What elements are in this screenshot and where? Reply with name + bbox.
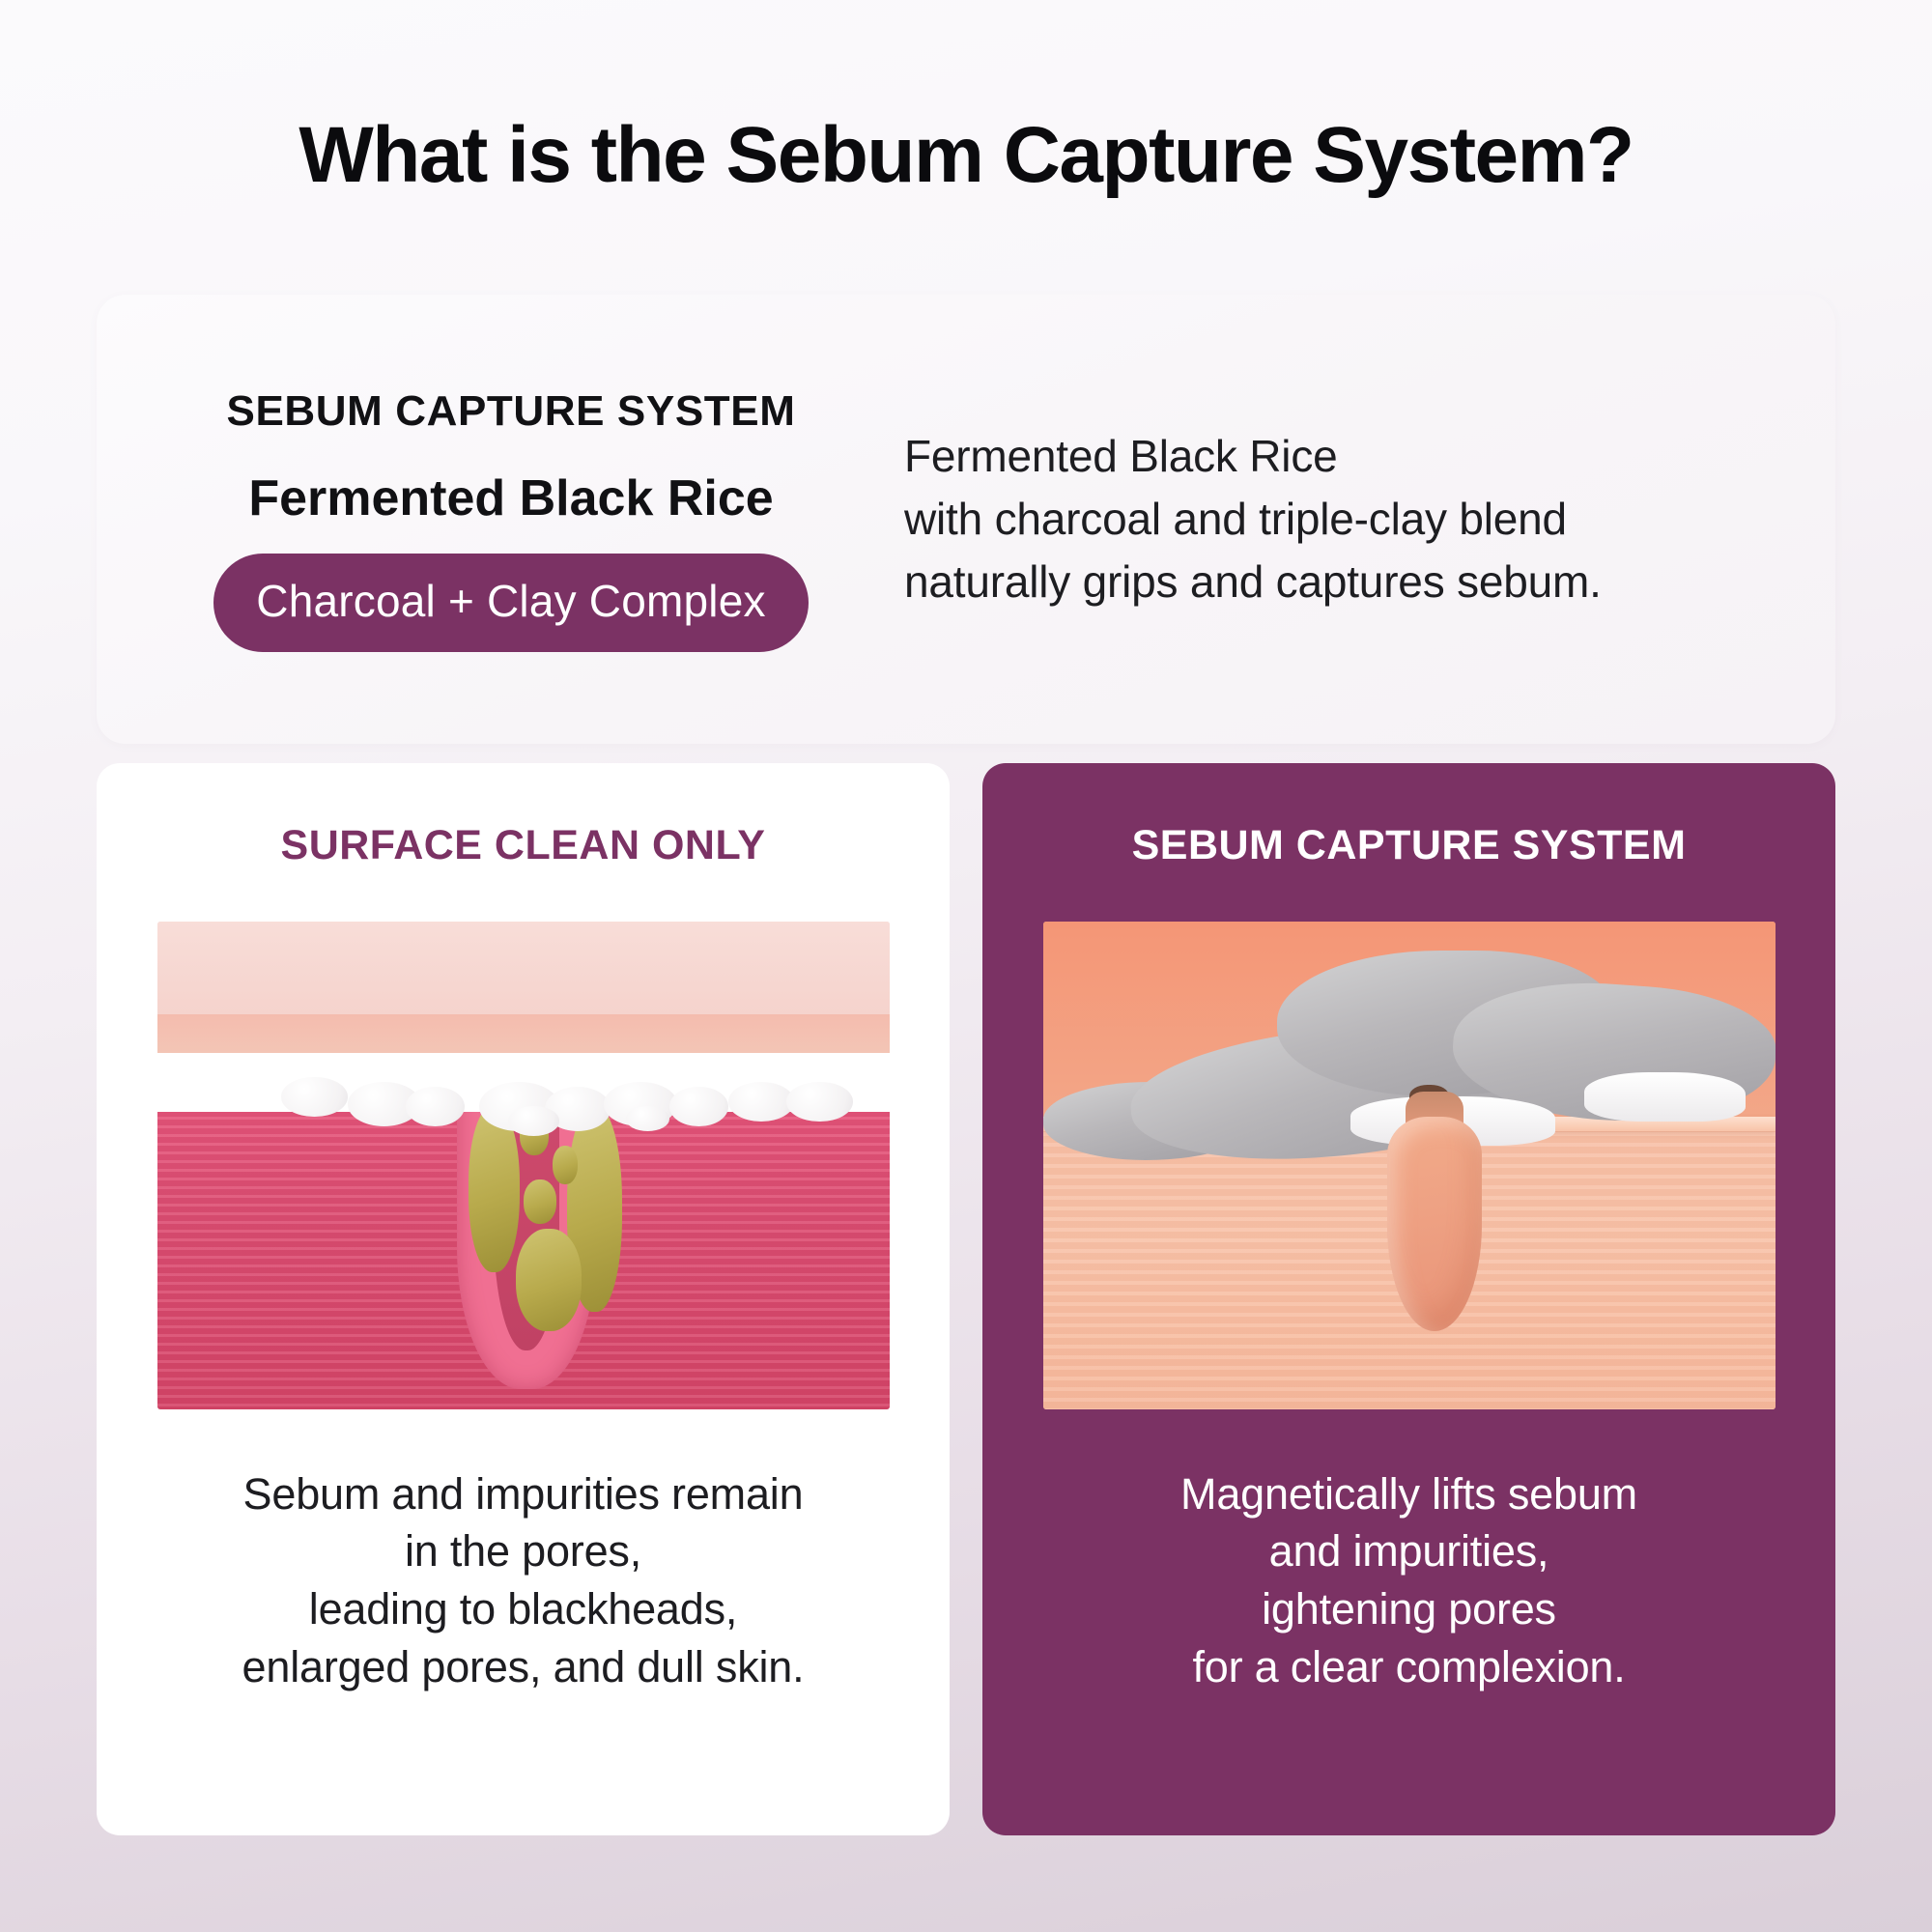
caption-line: Magnetically lifts sebum	[1180, 1465, 1637, 1523]
complex-badge: Charcoal + Clay Complex	[213, 554, 808, 652]
clogged-pore-illustration	[157, 922, 890, 1409]
sebum-deposit	[469, 1106, 520, 1272]
description-line-1: Fermented Black Rice	[904, 425, 1797, 488]
system-info-card: SEBUM CAPTURE SYSTEM Fermented Black Ric…	[97, 295, 1835, 744]
sebum-deposit	[516, 1229, 582, 1331]
lifted-sebum-droplet	[1387, 1117, 1483, 1331]
caption-line: ightening pores	[1180, 1580, 1637, 1638]
caption-line: for a clear complexion.	[1180, 1638, 1637, 1696]
caption-line: in the pores,	[242, 1522, 805, 1580]
infographic-page: What is the Sebum Capture System? SEBUM …	[0, 0, 1932, 1932]
comparison-row: SURFACE CLEAN ONLY	[97, 763, 1835, 1835]
caption-line: leading to blackheads,	[242, 1580, 805, 1638]
panel-surface-clean-only: SURFACE CLEAN ONLY	[97, 763, 950, 1835]
sebum-deposit	[524, 1179, 556, 1223]
description-line-3: naturally grips and captures sebum.	[904, 551, 1797, 613]
info-card-description: Fermented Black Rice with charcoal and t…	[879, 425, 1835, 614]
foam-bubble	[508, 1106, 559, 1135]
panel-right-heading: SEBUM CAPTURE SYSTEM	[1132, 821, 1687, 871]
panel-sebum-capture-system: SEBUM CAPTURE SYSTEM	[982, 763, 1835, 1835]
foam-bubble	[281, 1077, 347, 1116]
foam-bubble	[728, 1082, 794, 1121]
foam-bubble	[626, 1106, 669, 1130]
clay-lift-graphic	[1043, 922, 1776, 1409]
panel-right-caption: Magnetically lifts sebum and impurities,…	[1180, 1465, 1637, 1696]
caption-line: Sebum and impurities remain	[242, 1465, 805, 1523]
panel-left-heading: SURFACE CLEAN ONLY	[281, 821, 766, 871]
description-line-2: with charcoal and triple-clay blend	[904, 488, 1797, 551]
caption-line: and impurities,	[1180, 1522, 1637, 1580]
key-ingredient-label: Fermented Black Rice	[248, 470, 773, 528]
clay-lift-pore-illustration	[1043, 922, 1776, 1409]
foam-bubble	[406, 1087, 465, 1125]
foam-bubble	[786, 1082, 852, 1121]
panel-left-caption: Sebum and impurities remain in the pores…	[242, 1465, 805, 1696]
clogged-pore-graphic	[157, 922, 890, 1409]
caption-line: enlarged pores, and dull skin.	[242, 1638, 805, 1696]
clay-highlight	[1584, 1072, 1746, 1122]
foam-bubble	[669, 1087, 728, 1125]
sebum-deposit	[553, 1146, 579, 1184]
info-card-left-column: SEBUM CAPTURE SYSTEM Fermented Black Ric…	[97, 386, 879, 652]
system-eyebrow-label: SEBUM CAPTURE SYSTEM	[227, 386, 796, 438]
page-title: What is the Sebum Capture System?	[0, 114, 1932, 198]
